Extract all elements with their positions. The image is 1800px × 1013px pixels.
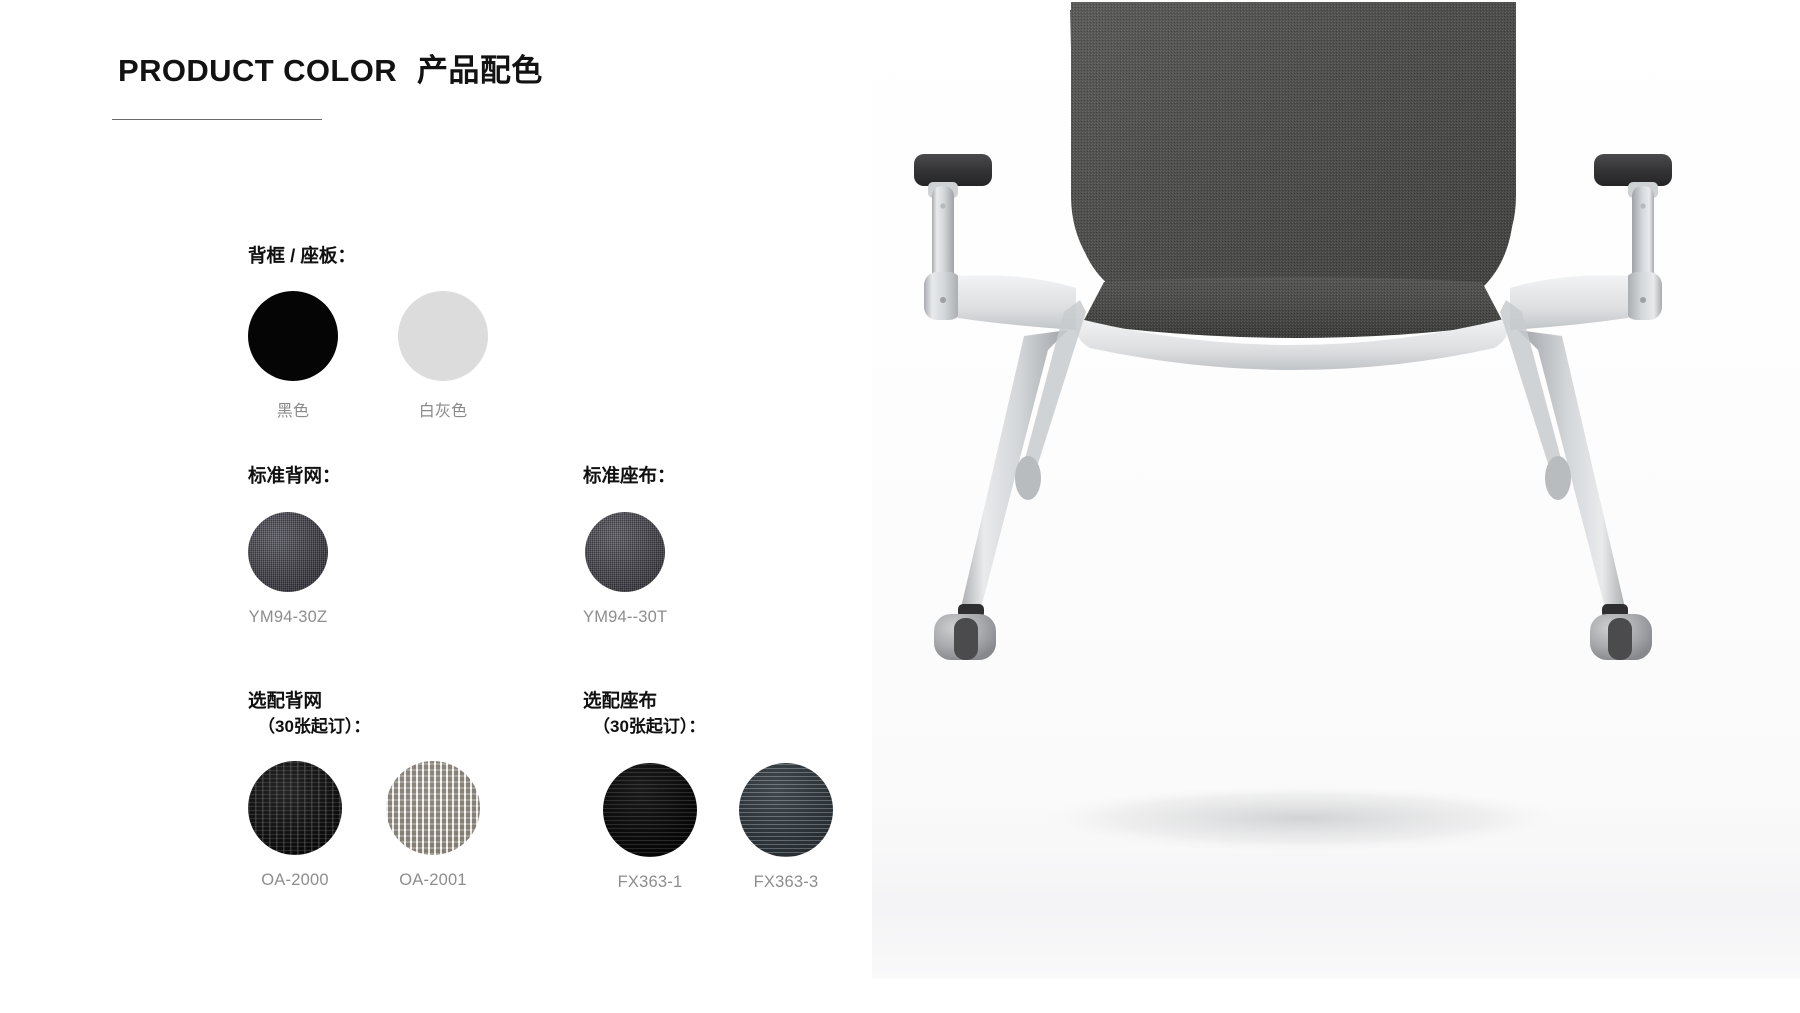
product-photo-chair [872, 0, 1800, 978]
group-frame-seatboard: 背框 / 座板： 黑色 白灰色 [248, 243, 488, 421]
swatch-label-black: 黑色 [277, 397, 309, 421]
swatch-chip-fx363-3[interactable] [739, 763, 833, 857]
product-photo-stage [872, 0, 1800, 978]
swatch-label-fx363-1: FX363-1 [618, 873, 683, 892]
swatch-label-white-gray: 白灰色 [419, 397, 468, 421]
swatch-row-optional-back-mesh: OA-2000 OA-2001 [248, 761, 480, 890]
swatch-row-frame-seatboard: 黑色 白灰色 [248, 291, 488, 421]
product-color-page: PRODUCT COLOR产品配色 背框 / 座板： 黑色 白灰色 标准背网： [0, 0, 1800, 1013]
group-title-frame-seatboard: 背框 / 座板： [248, 243, 488, 270]
swatch-fx363-1[interactable]: FX363-1 [603, 763, 697, 892]
swatch-label-oa-2001: OA-2001 [399, 871, 466, 890]
swatch-chip-ym94-30z[interactable] [248, 512, 328, 592]
arm-post-left [932, 186, 954, 286]
swatch-label-oa-2000: OA-2000 [261, 871, 328, 890]
group-standard-back-mesh: 标准背网： YM94-30Z [248, 463, 341, 627]
swatch-label-ym94-30t: YM94--30T [583, 608, 667, 627]
swatch-chip-fx363-1[interactable] [603, 763, 697, 857]
arm-post-right [1632, 186, 1654, 286]
arm-bracket-right [1510, 275, 1628, 330]
arm-joint-right [1624, 272, 1662, 320]
rear-castor-right [1545, 456, 1571, 500]
chair-floor-shadow [1032, 784, 1572, 852]
swatch-row-standard-back-mesh: YM94-30Z [248, 512, 341, 627]
color-swatch-panel: 背框 / 座板： 黑色 白灰色 标准背网： YM94-30Z [0, 0, 880, 1013]
swatch-white-gray[interactable]: 白灰色 [398, 291, 488, 421]
swatch-oa-2001[interactable]: OA-2001 [386, 761, 480, 890]
swatch-chip-oa-2001[interactable] [386, 761, 480, 855]
group-title-standard-back-mesh: 标准背网： [248, 463, 341, 490]
group-title-optional-back-mesh-main: 选配背网 [248, 690, 322, 711]
swatch-row-optional-seat-fabric: FX363-1 FX363-3 [603, 763, 833, 892]
swatch-chip-black[interactable] [248, 291, 338, 381]
group-title-optional-back-mesh-moq: （30张起订）： [248, 715, 480, 740]
swatch-chip-ym94-30t[interactable] [585, 512, 665, 592]
swatch-ym94-30z[interactable]: YM94-30Z [248, 512, 328, 627]
group-title-optional-seat-fabric: 选配座布 （30张起订）： [583, 688, 833, 739]
group-title-optional-seat-fabric-moq: （30张起订）： [583, 715, 833, 740]
swatch-ym94-30t[interactable]: YM94--30T [583, 512, 667, 627]
swatch-chip-white-gray[interactable] [398, 291, 488, 381]
group-title-optional-seat-fabric-main: 选配座布 [583, 690, 657, 711]
arm-bracket-left [958, 275, 1076, 330]
armpad-left [914, 154, 992, 186]
arm-joint-left [924, 272, 962, 320]
swatch-fx363-3[interactable]: FX363-3 [739, 763, 833, 892]
group-title-optional-back-mesh: 选配背网 （30张起订）： [248, 688, 480, 739]
group-standard-seat-fabric: 标准座布： YM94--30T [583, 463, 676, 627]
swatch-chip-oa-2000[interactable] [248, 761, 342, 855]
chair-armrest-right [1510, 154, 1672, 330]
swatch-black[interactable]: 黑色 [248, 291, 338, 421]
armpad-right [1594, 154, 1672, 186]
swatch-oa-2000[interactable]: OA-2000 [248, 761, 342, 890]
chair-castor-left [934, 614, 996, 660]
swatch-label-fx363-3: FX363-3 [754, 873, 819, 892]
group-title-standard-seat-fabric: 标准座布： [583, 463, 676, 490]
swatch-label-ym94-30z: YM94-30Z [249, 608, 328, 627]
chair-castor-right [1590, 614, 1652, 660]
swatch-row-standard-seat-fabric: YM94--30T [583, 512, 676, 627]
chair-armrest-left [914, 154, 1076, 330]
group-optional-back-mesh: 选配背网 （30张起订）： OA-2000 OA-2001 [248, 688, 480, 890]
rear-castor-left [1015, 456, 1041, 500]
group-optional-seat-fabric: 选配座布 （30张起订）： FX363-1 FX363-3 [583, 688, 833, 892]
